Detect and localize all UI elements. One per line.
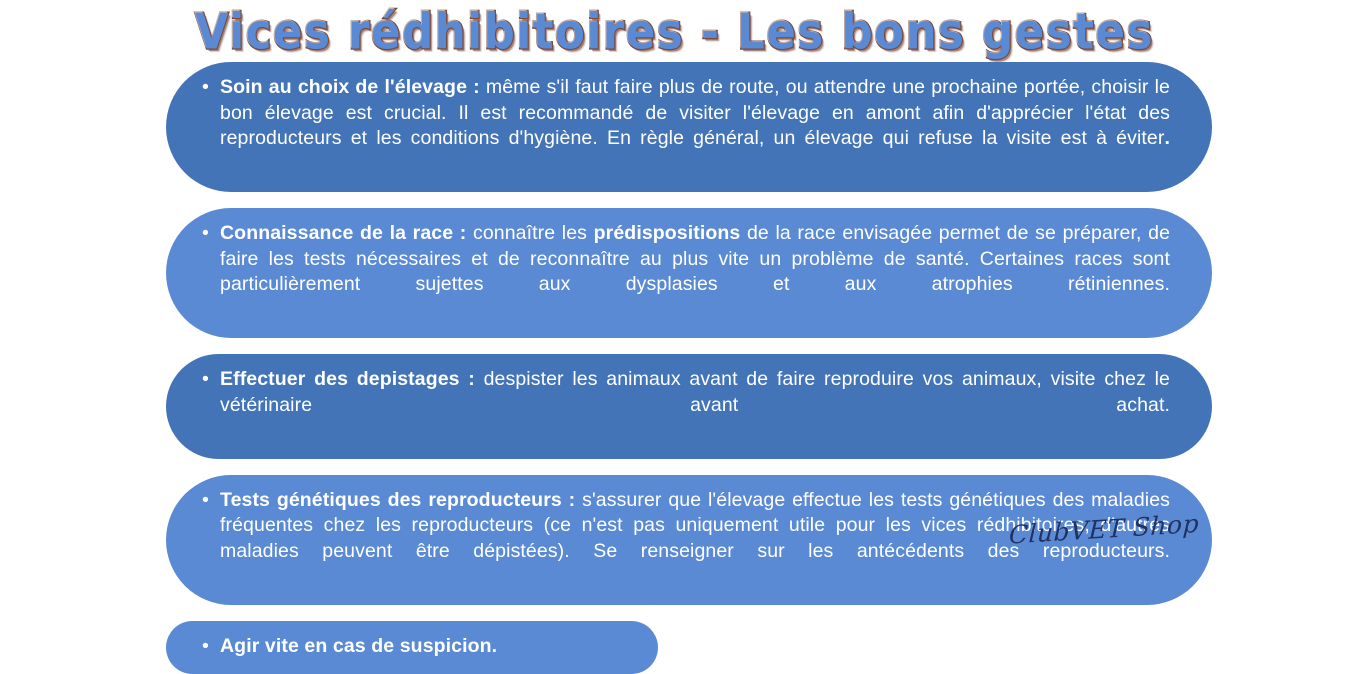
tip-lead-label: Soin au choix de l'élevage : bbox=[220, 76, 480, 98]
tips-list: •Soin au choix de l'élevage : même s'il … bbox=[0, 62, 1348, 674]
tip-lead-label: Effectuer des depistages : bbox=[220, 368, 475, 390]
tip-lead-label: Agir vite en cas de suspicion. bbox=[220, 635, 497, 657]
tip-lead-label: Connaissance de la race : bbox=[220, 222, 466, 244]
tip-block-connaissance-de-la-race: •Connaissance de la race : connaître les… bbox=[166, 208, 1212, 338]
bullet-icon: • bbox=[202, 221, 209, 247]
page-title: Vices rédhibitoires - Les bons gestes bbox=[194, 3, 1153, 60]
tip-paragraph: •Agir vite en cas de suspicion. bbox=[202, 634, 616, 660]
title-bar: Vices rédhibitoires - Les bons gestes bbox=[0, 0, 1348, 62]
tip-body-emphasis: prédispositions bbox=[594, 222, 741, 244]
tip-paragraph: •Connaissance de la race : connaître les… bbox=[202, 221, 1170, 323]
tip-paragraph: •Effectuer des depistages : despister le… bbox=[202, 367, 1170, 444]
bullet-icon: • bbox=[202, 367, 209, 393]
tip-lead-label: Tests génétiques des reproducteurs : bbox=[220, 489, 575, 511]
tip-block-effectuer-des-depistages: •Effectuer des depistages : despister le… bbox=[166, 354, 1212, 459]
bullet-icon: • bbox=[202, 488, 209, 514]
tip-body-bold-tail: . bbox=[1164, 127, 1170, 149]
bullet-icon: • bbox=[202, 634, 209, 660]
tip-block-agir-vite-en-cas-de-suspicion: •Agir vite en cas de suspicion. bbox=[166, 621, 658, 674]
bullet-icon: • bbox=[202, 75, 209, 101]
tip-paragraph: •Soin au choix de l'élevage : même s'il … bbox=[202, 75, 1170, 177]
tip-body-text: connaître les bbox=[466, 222, 593, 244]
tip-block-soin-au-choix-de-l-elevage: •Soin au choix de l'élevage : même s'il … bbox=[166, 62, 1212, 192]
